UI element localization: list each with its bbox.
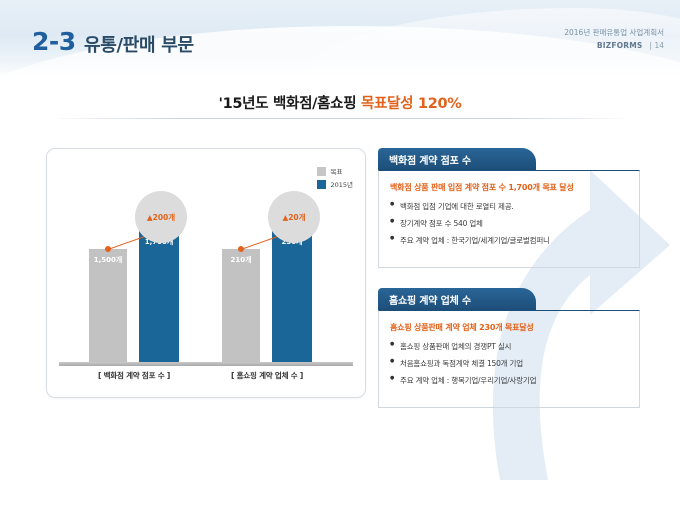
category-label-group2: [ 홈쇼핑 계약 업체 수 ] — [202, 370, 332, 381]
chart-baseline — [59, 362, 353, 366]
info-panel-lead-2: 홈쇼핑 상품판매 계약 업체 230개 목표달성 — [390, 322, 629, 333]
delta-badge-label-group1: ▲200개 — [147, 212, 175, 223]
list-item: 주요 계약 업체 : 한국기업/세계기업/글로벌컴퍼니 — [390, 235, 629, 246]
list-item: 처음홈쇼핑과 독점계약 체결 150개 기업 — [390, 358, 629, 369]
info-panel-heading-text-1: 백화점 계약 점포 수 — [389, 152, 471, 167]
header-meta: 2016년 판매유통업 사업계획서 BIZFORMS| 14 — [564, 27, 664, 51]
bar-actual-group2: 230개 — [272, 231, 312, 362]
info-panel-heading-2: 홈쇼핑 계약 업체 수 — [378, 288, 536, 310]
bar-target-group1: 1,500개 — [89, 249, 127, 362]
list-item: 주요 계약 업체 : 행복기업/우리기업/사랑기업 — [390, 375, 629, 386]
info-panel-department-store: 백화점 계약 점포 수 백화점 상품 판매 입점 계약 점포 수 1,700개 … — [378, 148, 640, 268]
delta-badge-group1: ▲200개 — [135, 191, 187, 243]
category-label-group1: [ 백화점 계약 점포 수 ] — [69, 370, 199, 381]
main-title-plain: '15년도 백화점/홈쇼핑 — [218, 96, 361, 112]
info-panel-body-1: 백화점 상품 판매 입점 계약 점포 수 1,700개 목표 달성 백화점 입점… — [378, 170, 640, 268]
info-panel-body-2: 홈쇼핑 상품판매 계약 업체 230개 목표달성 홈쇼핑 상품판매 업체의 경쟁… — [378, 310, 640, 408]
bar-label-target-group1: 1,500개 — [89, 255, 127, 265]
list-item: 홈쇼핑 상품판매 업체의 경쟁PT 실시 — [390, 341, 629, 352]
list-item: 장기계약 점포 수 540 업체 — [390, 218, 629, 229]
main-title-accent: 목표달성 120% — [361, 96, 462, 112]
info-panel-bullets-1: 백화점 입점 기업에 대한 로열티 제공. 장기계약 점포 수 540 업체 주… — [390, 201, 629, 246]
brand-label: BIZFORMS — [597, 41, 643, 50]
slide-number: 2-3 — [32, 27, 76, 56]
bar-actual-group1: 1,700개 — [139, 231, 179, 362]
category-text-group1: [ 백화점 계약 점포 수 ] — [98, 371, 170, 380]
slide-header: 2-3 유통/판매 부문 2016년 판매유통업 사업계획서 BIZFORMS|… — [0, 0, 680, 78]
list-item: 백화점 입점 기업에 대한 로열티 제공. — [390, 201, 629, 212]
page-number: | 14 — [650, 41, 664, 50]
slide-canvas: 2-3 유통/판매 부문 2016년 판매유통업 사업계획서 BIZFORMS|… — [0, 0, 680, 510]
page-title: 유통/판매 부문 — [84, 31, 194, 57]
bar-label-target-group2: 210개 — [222, 255, 260, 265]
info-panel-heading-text-2: 홈쇼핑 계약 업체 수 — [389, 292, 471, 307]
delta-badge-label-group2: ▲20개 — [282, 212, 305, 223]
category-text-group2: [ 홈쇼핑 계약 업체 수 ] — [231, 371, 303, 380]
bar-target-group2: 210개 — [222, 249, 260, 362]
main-title: '15년도 백화점/홈쇼핑 목표달성 120% — [0, 92, 680, 113]
title-divider — [58, 118, 623, 119]
info-panel-heading-1: 백화점 계약 점포 수 — [378, 148, 536, 170]
chart-plot-area: 1,500개 1,700개 ▲200개 [ 백화점 계약 점포 수 ] 210개… — [47, 149, 365, 397]
info-panel-bullets-2: 홈쇼핑 상품판매 업체의 경쟁PT 실시 처음홈쇼핑과 독점계약 체결 150개… — [390, 341, 629, 386]
document-title: 2016년 판매유통업 사업계획서 — [564, 27, 664, 39]
delta-badge-group2: ▲20개 — [268, 191, 320, 243]
info-panel-lead-1: 백화점 상품 판매 입점 계약 점포 수 1,700개 목표 달성 — [390, 182, 629, 193]
info-panel-home-shopping: 홈쇼핑 계약 업체 수 홈쇼핑 상품판매 계약 업체 230개 목표달성 홈쇼핑… — [378, 288, 640, 408]
chart-panel: 목표 2015년 1,500개 1,700개 ▲200개 [ 백화점 — [46, 148, 366, 398]
